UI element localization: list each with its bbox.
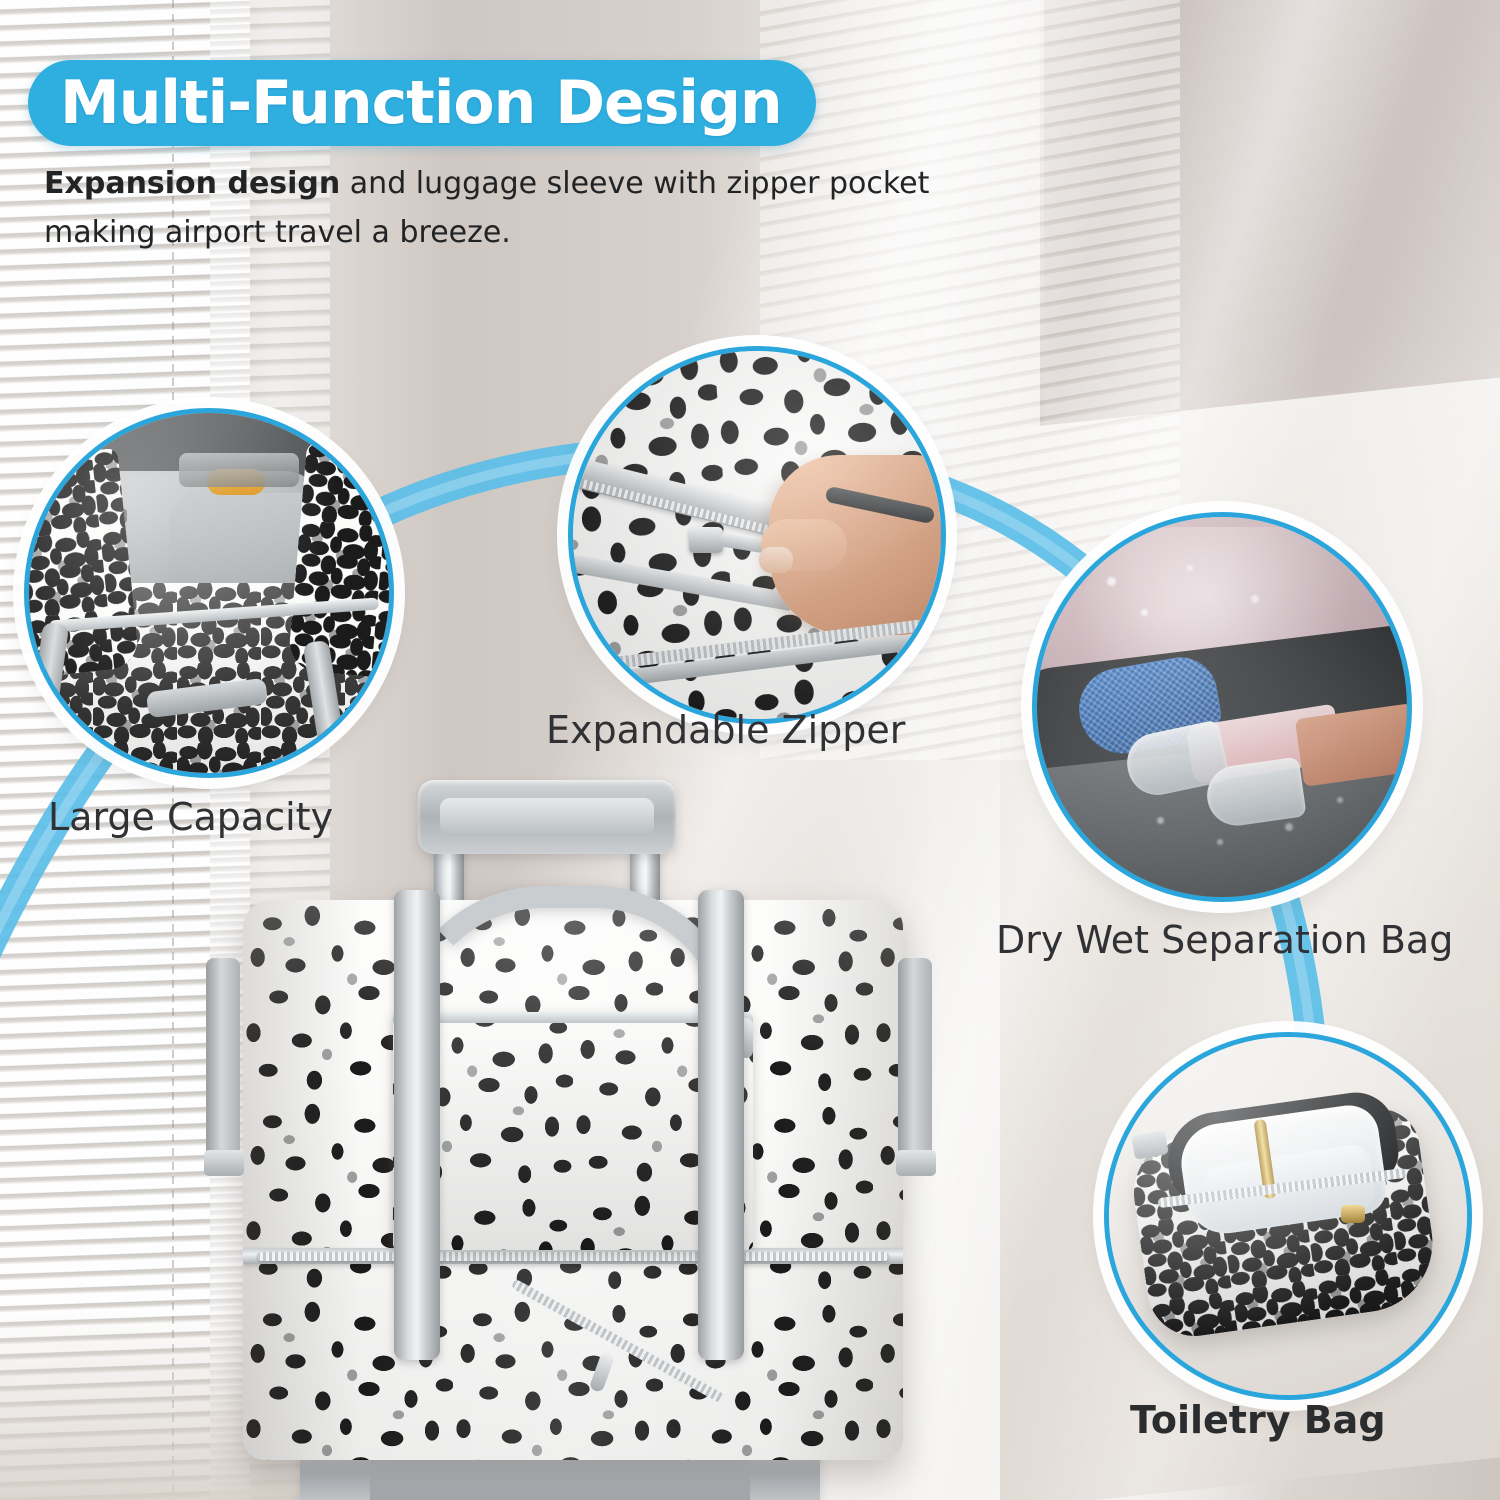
callout-label-large-capacity: Large Capacity <box>48 795 333 839</box>
callout-expandable-zipper <box>568 346 946 724</box>
bag-handle-right <box>698 890 744 1360</box>
callout-label-expandable-zipper: Expandable Zipper <box>546 708 905 752</box>
photo-toiletry-bag <box>1109 1037 1467 1395</box>
trolley-grip <box>418 780 676 854</box>
strap-ring-right <box>896 1150 936 1176</box>
page-title-badge: Multi-Function Design <box>28 60 816 146</box>
strap-ring-left <box>204 1150 244 1176</box>
callout-label-toiletry-bag: Toiletry Bag <box>1130 1398 1386 1442</box>
infographic-canvas: Multi-Function Design Expansion design a… <box>0 0 1500 1500</box>
callout-label-dry-wet-separation: Dry Wet Separation Bag <box>996 918 1453 962</box>
subtitle-text: Expansion design and luggage sleeve with… <box>44 160 944 257</box>
bag-handle-left <box>394 890 440 1360</box>
callout-toiletry-bag <box>1104 1032 1472 1400</box>
callout-dry-wet-separation <box>1032 512 1412 902</box>
bag-side-strap-left <box>206 958 240 1158</box>
subtitle-lead: Expansion design <box>44 166 340 201</box>
expansion-zipper-teeth <box>257 1252 889 1261</box>
bag-side-strap-right <box>898 958 932 1158</box>
photo-expandable-zipper <box>573 351 941 719</box>
photo-dry-wet-separation <box>1037 517 1407 897</box>
page-title: Multi-Function Design <box>60 68 782 138</box>
callout-large-capacity <box>24 408 394 778</box>
photo-large-capacity <box>29 413 389 773</box>
hero-duffel-bag <box>198 900 943 1460</box>
